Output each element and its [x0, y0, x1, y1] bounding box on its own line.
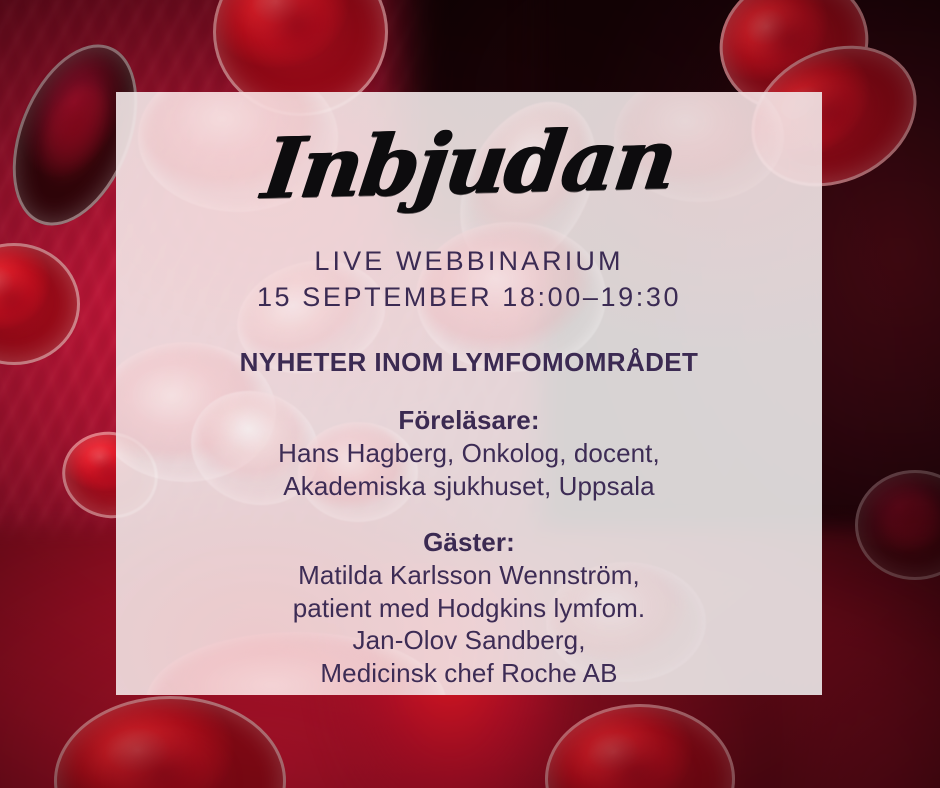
- speaker-block: Föreläsare: Hans Hagberg, Onkolog, docen…: [278, 404, 660, 502]
- guest-line: Matilda Karlsson Wennström,: [293, 559, 646, 592]
- invitation-poster: Inbjudan LIVE WEBBINARIUM 15 SEPTEMBER 1…: [0, 0, 940, 788]
- guest-line: Jan-Olov Sandberg,: [293, 624, 646, 657]
- page-title: Inbjudan: [258, 117, 680, 211]
- guests-heading: Gäster:: [293, 526, 646, 559]
- speaker-line: Hans Hagberg, Onkolog, docent,: [278, 437, 660, 470]
- guest-line: patient med Hodgkins lymfom.: [293, 592, 646, 625]
- guests-block: Gäster: Matilda Karlsson Wennström, pati…: [293, 526, 646, 690]
- event-datetime-label: 15 SEPTEMBER 18:00–19:30: [257, 280, 681, 316]
- guest-line: Medicinsk chef Roche AB: [293, 657, 646, 690]
- event-topic: NYHETER INOM LYMFOMOMRÅDET: [240, 347, 699, 378]
- speaker-heading: Föreläsare:: [278, 404, 660, 437]
- speaker-line: Akademiska sjukhuset, Uppsala: [278, 470, 660, 503]
- poster-content: Inbjudan LIVE WEBBINARIUM 15 SEPTEMBER 1…: [116, 92, 822, 695]
- event-subtitle: LIVE WEBBINARIUM 15 SEPTEMBER 18:00–19:3…: [257, 244, 681, 315]
- event-type-label: LIVE WEBBINARIUM: [257, 244, 681, 280]
